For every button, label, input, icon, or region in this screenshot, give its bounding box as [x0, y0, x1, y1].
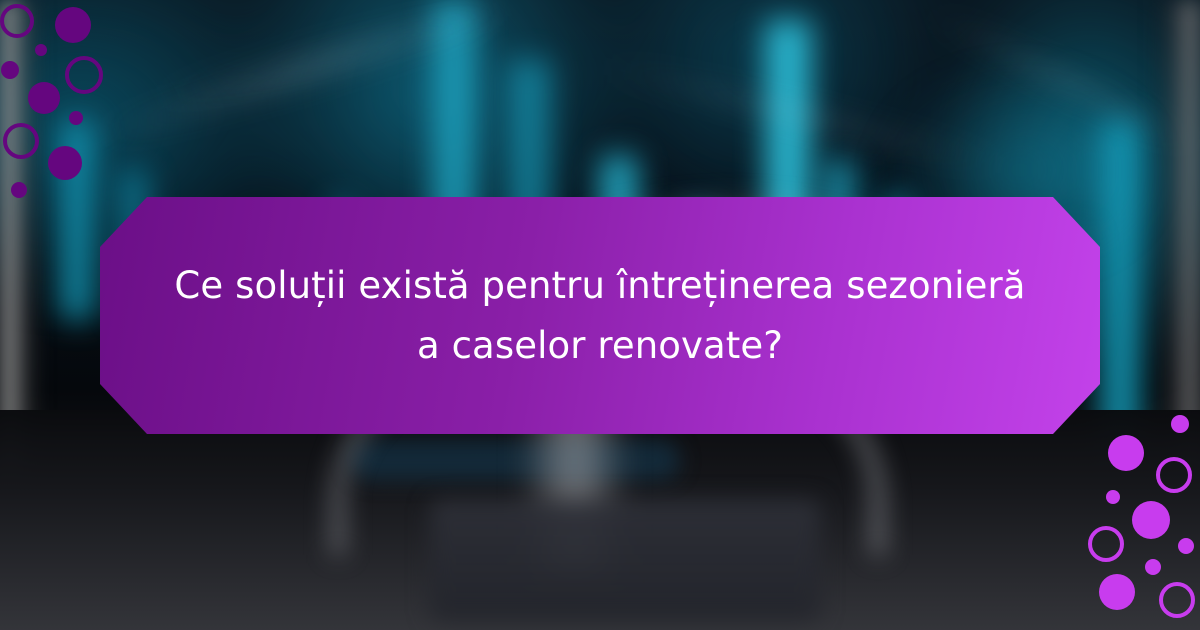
chart-bar [60, 120, 94, 320]
social-card: Ce soluții există pentru întreținerea se… [0, 0, 1200, 630]
headline-banner: Ce soluții există pentru întreținerea se… [100, 197, 1100, 434]
monitor-bezel-left [0, 0, 42, 470]
monitor-bezel-right [1154, 0, 1200, 470]
monitor-stand-base [430, 500, 820, 620]
headline-text: Ce soluții există pentru întreținerea se… [158, 256, 1042, 376]
